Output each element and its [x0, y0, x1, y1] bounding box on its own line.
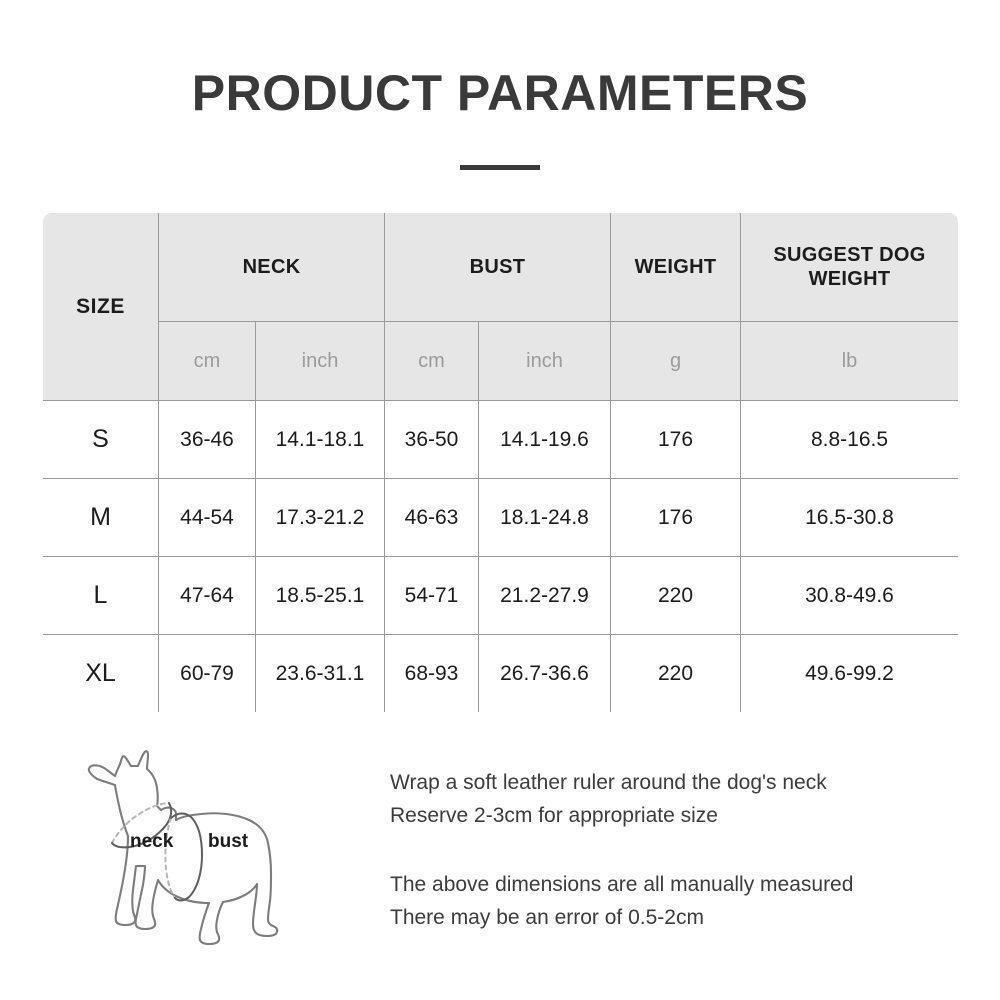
header-cell-size: SIZE	[43, 213, 159, 401]
table-row: M 44-54 17.3-21.2 46-63 18.1-24.8 176 16…	[43, 479, 959, 557]
note-block-disclaimer: The above dimensions are all manually me…	[390, 868, 950, 934]
unit-cell-bust-cm: cm	[385, 322, 479, 401]
cell-size: S	[43, 401, 159, 479]
note-block-measuring: Wrap a soft leather ruler around the dog…	[390, 766, 950, 832]
note-line: The above dimensions are all manually me…	[390, 868, 950, 901]
size-chart-table: SIZE NECK BUST WEIGHT SUGGEST DOG WEIGHT…	[42, 212, 959, 713]
table-header-row-units: cm inch cm inch g lb	[43, 322, 959, 401]
cell-neck-inch: 17.3-21.2	[256, 479, 385, 557]
measurement-instructions: Wrap a soft leather ruler around the dog…	[390, 766, 950, 934]
bust-measure-dashed	[165, 818, 175, 898]
unit-cell-weight-g: g	[611, 322, 741, 401]
cell-weight-g: 220	[611, 635, 741, 713]
cell-neck-cm: 47-64	[159, 557, 256, 635]
cell-bust-inch: 18.1-24.8	[479, 479, 611, 557]
cell-neck-inch: 14.1-18.1	[256, 401, 385, 479]
cell-size: XL	[43, 635, 159, 713]
cell-neck-cm: 36-46	[159, 401, 256, 479]
note-line: There may be an error of 0.5-2cm	[390, 901, 950, 934]
table-header-row-groups: SIZE NECK BUST WEIGHT SUGGEST DOG WEIGHT	[43, 213, 959, 322]
cell-neck-inch: 23.6-31.1	[256, 635, 385, 713]
cell-suggest-lb: 8.8-16.5	[741, 401, 959, 479]
cell-neck-inch: 18.5-25.1	[256, 557, 385, 635]
cell-bust-cm: 68-93	[385, 635, 479, 713]
neck-label: neck	[130, 831, 174, 852]
cell-weight-g: 176	[611, 401, 741, 479]
header-cell-suggest-dog-weight: SUGGEST DOG WEIGHT	[741, 213, 959, 322]
table-row: S 36-46 14.1-18.1 36-50 14.1-19.6 176 8.…	[43, 401, 959, 479]
dog-measurement-diagram: neck bust	[68, 748, 358, 963]
cell-size: L	[43, 557, 159, 635]
unit-cell-bust-inch: inch	[479, 322, 611, 401]
cell-neck-cm: 44-54	[159, 479, 256, 557]
cell-bust-inch: 26.7-36.6	[479, 635, 611, 713]
cell-neck-cm: 60-79	[159, 635, 256, 713]
cell-bust-cm: 36-50	[385, 401, 479, 479]
table-row: L 47-64 18.5-25.1 54-71 21.2-27.9 220 30…	[43, 557, 959, 635]
cell-weight-g: 176	[611, 479, 741, 557]
page-title: PRODUCT PARAMETERS	[0, 64, 1000, 122]
unit-cell-suggest-lb: lb	[741, 322, 959, 401]
cell-bust-cm: 54-71	[385, 557, 479, 635]
bust-measure-solid	[171, 814, 202, 901]
cell-bust-inch: 21.2-27.9	[479, 557, 611, 635]
table-row: XL 60-79 23.6-31.1 68-93 26.7-36.6 220 4…	[43, 635, 959, 713]
cell-bust-inch: 14.1-19.6	[479, 401, 611, 479]
title-divider	[460, 165, 540, 170]
unit-cell-neck-cm: cm	[159, 322, 256, 401]
header-cell-neck: NECK	[159, 213, 385, 322]
cell-suggest-lb: 30.8-49.6	[741, 557, 959, 635]
cell-size: M	[43, 479, 159, 557]
dog-outline-icon	[89, 751, 277, 944]
cell-suggest-lb: 16.5-30.8	[741, 479, 959, 557]
header-cell-weight: WEIGHT	[611, 213, 741, 322]
note-line: Reserve 2-3cm for appropriate size	[390, 799, 950, 832]
bust-label: bust	[208, 831, 249, 852]
note-line: Wrap a soft leather ruler around the dog…	[390, 766, 950, 799]
unit-cell-neck-inch: inch	[256, 322, 385, 401]
cell-suggest-lb: 49.6-99.2	[741, 635, 959, 713]
header-cell-bust: BUST	[385, 213, 611, 322]
cell-bust-cm: 46-63	[385, 479, 479, 557]
cell-weight-g: 220	[611, 557, 741, 635]
